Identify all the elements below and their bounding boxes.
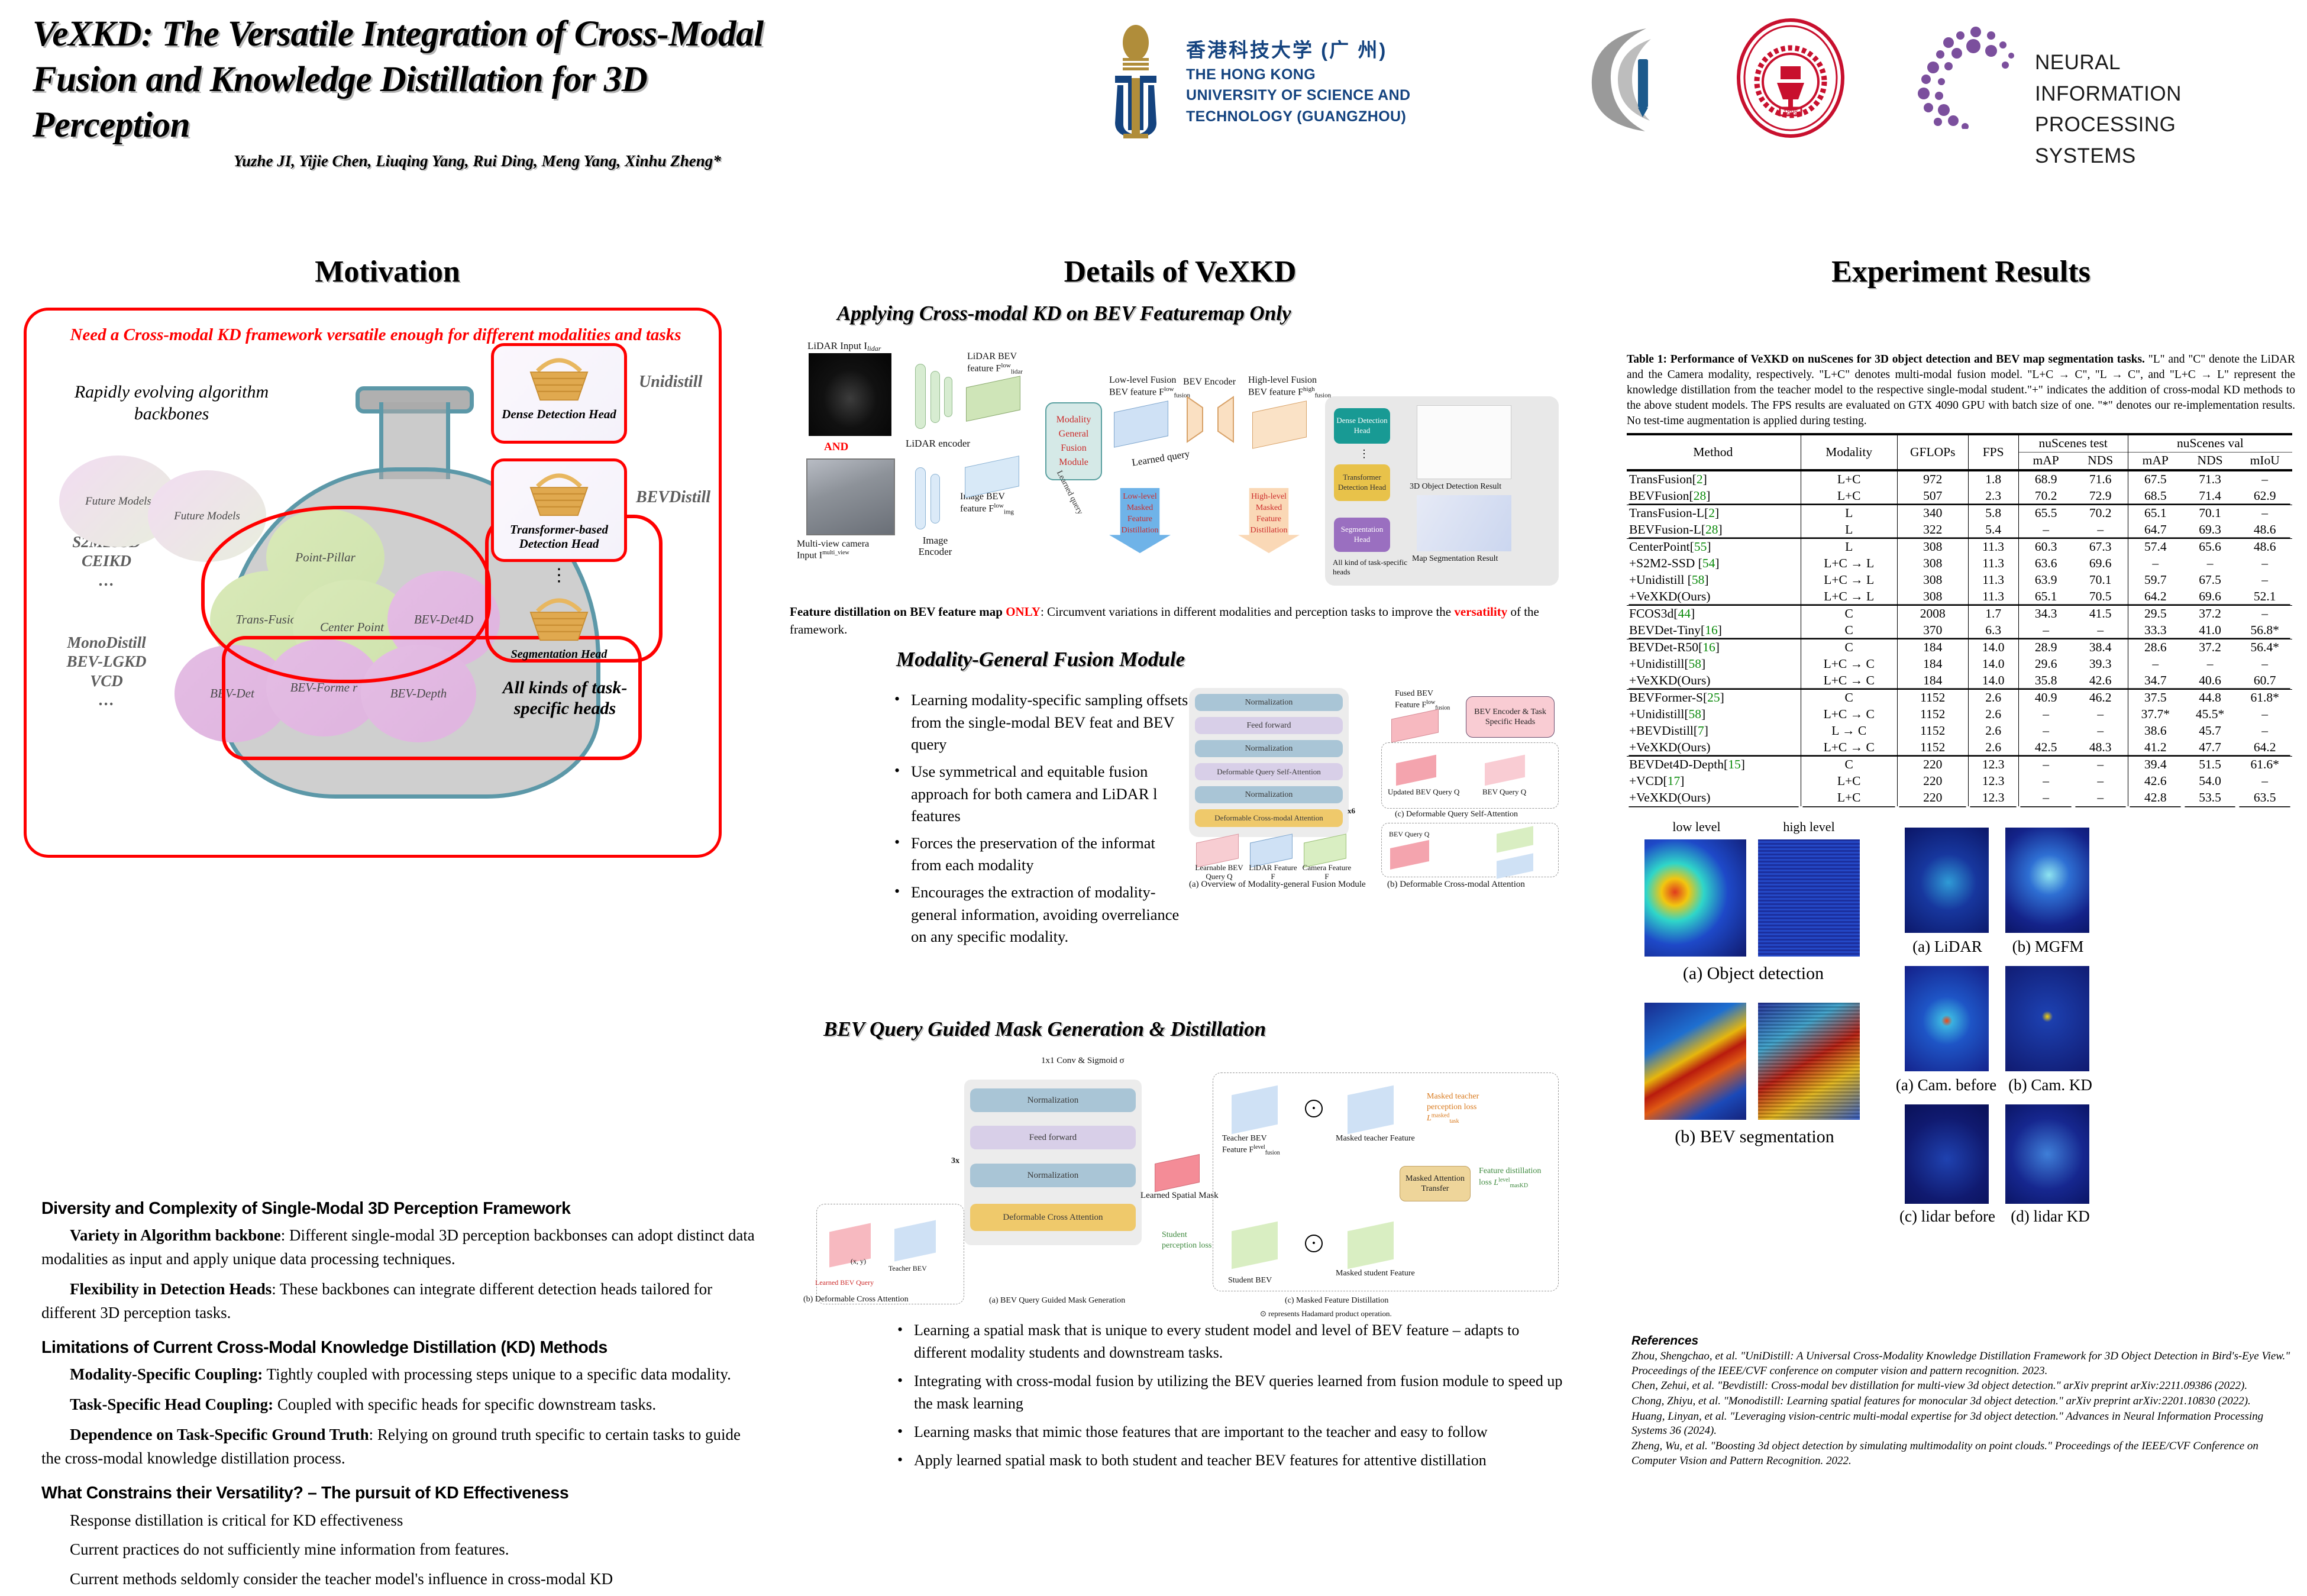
citation-ref[interactable]: 25 (1707, 690, 1720, 705)
label-ellipsis-a: … (33, 571, 180, 590)
cell-fps: 2.6 (1968, 739, 2018, 757)
cell-method: BEVDet-Tiny[16] (1627, 622, 1801, 639)
cell-test-map: – (2018, 790, 2073, 806)
hkust-en-line-3: TECHNOLOGY (GUANGZHOU) (1186, 106, 1411, 128)
cell-test-map: 65.5 (2018, 505, 2073, 522)
table-row: BEVDet-R50[16]C18414.028.938.428.637.256… (1627, 639, 2292, 656)
versatility-line-1: Response distillation is critical for KD… (70, 1508, 757, 1533)
viz-lidar-kd (2005, 1104, 2089, 1204)
heading-motivation: Motivation (24, 254, 751, 289)
cell-modality: L+C → C (1801, 656, 1897, 673)
cell-val-map: 59.7 (2128, 572, 2183, 589)
cell-fps: 12.3 (1968, 773, 2018, 790)
cell-val-miou: 62.9 (2237, 488, 2292, 505)
cell-val-nds: 53.5 (2183, 790, 2238, 806)
label-all-task-heads: All kind of task-specific heads (1333, 558, 1410, 576)
cell-method: +VeXKD(Ours) (1627, 790, 1801, 806)
cell-val-miou: – (2237, 605, 2292, 622)
label-lowlevel-fusion: Low-level Fusion BEV feature Flowfusion (1109, 374, 1190, 400)
label-masked-teacher-loss: Masked teacher perception loss Lmaskedta… (1427, 1091, 1498, 1126)
right-column: Table 1: Performance of VeXKD on nuScene… (1627, 308, 2295, 1227)
mask-bullet-3: Learning masks that mimic those features… (890, 1421, 1568, 1443)
cell-test-nds: – (2073, 622, 2128, 639)
caption-lidar-before: (c) lidar before (1888, 1207, 2006, 1226)
kd-method-group-camera: MonoDistill BEV-LGKD VCD … (27, 633, 186, 710)
lowlevel-fusion-cube (1114, 400, 1168, 448)
results-table-body: TransFusion[2]L+C9721.868.971.667.571.3–… (1627, 470, 2292, 806)
cell-modality: C (1801, 689, 1897, 706)
cell-modality: L+C (1801, 470, 1897, 488)
subheading-bev-kd-only: Applying Cross-modal KD on BEV Featurema… (837, 302, 1291, 325)
cell-val-nds: 37.2 (2183, 605, 2238, 622)
cell-val-miou: – (2237, 470, 2292, 488)
para-ground-truth: Dependence on Task-Specific Ground Truth… (41, 1423, 757, 1471)
para-variety: Variety in Algorithm backbone: Different… (41, 1224, 757, 1271)
label-learned-spatial-mask: Learned Spatial Mask (1140, 1191, 1219, 1201)
cell-gflops: 322 (1897, 522, 1968, 539)
caption-mgfm: (b) MGFM (1995, 938, 2101, 956)
label-lidar-bev-feature: LiDAR BEV feature Flowlidar (967, 351, 1023, 376)
label-unidistill: Unidistill (639, 373, 702, 392)
cell-val-map: 34.7 (2128, 673, 2183, 690)
mask-bullet-1: Learning a spatial mask that is unique t… (890, 1319, 1568, 1364)
cell-fps: 2.6 (1968, 706, 2018, 723)
cell-val-miou: – (2237, 706, 2292, 723)
camera-input-image (806, 458, 895, 535)
cell-fps: 11.3 (1968, 572, 2018, 589)
cell-test-nds: – (2073, 756, 2128, 773)
cell-modality: C (1801, 756, 1897, 773)
mask-deformable-cross-attention: Deformable Cross Attention (970, 1204, 1136, 1231)
label-repeat-x6: x6 (1348, 806, 1355, 816)
label-learned-bev-query: Learned BEV Query (815, 1278, 874, 1287)
mgfm-bullet-1: Learning modality-specific sampling offs… (887, 689, 1189, 756)
basket-icon (515, 348, 603, 408)
cell-gflops: 340 (1897, 505, 1968, 522)
cell-val-nds: 71.4 (2183, 488, 2238, 505)
cell-test-map: – (2018, 522, 2073, 539)
citation-ref[interactable]: 17 (1668, 774, 1681, 788)
cell-val-nds: 69.3 (2183, 522, 2238, 539)
cell-val-map: 67.5 (2128, 470, 2183, 488)
cell-test-map: – (2018, 756, 2073, 773)
caption-d-cross-attention: (b) Deformable Cross-modal Attention (1387, 880, 1525, 890)
cell-val-miou: 60.7 (2237, 673, 2292, 690)
citation-ref[interactable]: 58 (1692, 573, 1705, 587)
versatility-line-3: Current methods seldomly consider the te… (70, 1567, 757, 1591)
cell-test-nds: 70.5 (2073, 589, 2128, 606)
viz-bevseg-high (1758, 1003, 1860, 1120)
citation-ref[interactable]: 16 (1705, 623, 1718, 637)
cell-gflops: 220 (1897, 756, 1968, 773)
cell-test-nds: 39.3 (2073, 656, 2128, 673)
cell-val-nds: 41.0 (2183, 622, 2238, 639)
heading-details: Details of VeXKD (787, 254, 1573, 289)
detection-result-image (1417, 405, 1511, 479)
caption-a-mgfm-overview: (a) Overview of Modality-general Fusion … (1189, 880, 1366, 890)
table-header-row-1: Method Modality GFLOPs FPS nuScenes test… (1627, 434, 2292, 453)
table-row: TransFusion-L[2]L3405.865.570.265.170.1– (1627, 505, 2292, 522)
cell-val-nds: 47.7 (2183, 739, 2238, 757)
poster-title-line-3: Perception (33, 103, 1038, 148)
neurips-wordmark: NEURAL INFORMATION PROCESSING SYSTEMS (2035, 47, 2266, 172)
table-row: +VeXKD(Ours)L+C22012.3––42.853.563.5 (1627, 790, 2292, 806)
cell-val-nds: 45.7 (2183, 723, 2238, 739)
table-row: BEVFusion-L[28]L3225.4––64.769.348.6 (1627, 522, 2292, 539)
lowlevel-distill-arrow: Low-levelMasked FeatureDistillation (1109, 488, 1171, 553)
lidar-encoder-layer-1 (915, 364, 926, 429)
viz-bevseg-low (1644, 1003, 1746, 1120)
section-head-diversity: Diversity and Complexity of Single-Modal… (41, 1199, 757, 1219)
cell-val-miou: – (2237, 773, 2292, 790)
basket-card-dense-head: Dense Detection Head (491, 343, 627, 444)
para-flexibility: Flexibility in Detection Heads: These ba… (41, 1278, 757, 1325)
cell-test-map: 40.9 (2018, 689, 2073, 706)
cell-val-map: 29.5 (2128, 605, 2183, 622)
cell-test-map: – (2018, 773, 2073, 790)
cell-val-map: 37.5 (2128, 689, 2183, 706)
basket-card-transformer-head: Transformer-based Detection Head (491, 458, 627, 562)
caption-a-mask-generation: (a) BEV Query Guided Mask Generation (989, 1296, 1125, 1306)
label-lidar-feature: LiDAR Feature F (1248, 864, 1298, 881)
cell-val-miou: – (2237, 723, 2292, 739)
motivation-figure: Need a Cross-modal KD framework versatil… (24, 308, 722, 858)
cell-method: BEVDet4D-Depth[15] (1627, 756, 1801, 773)
cell-modality: L+C → C (1801, 706, 1897, 723)
table-row: +Unidistill [58]L+C → L30811.363.970.159… (1627, 572, 2292, 589)
highlevel-distill-arrow: High-levelMasked FeatureDistillation (1238, 488, 1300, 553)
citation-ref[interactable]: 2 (1708, 506, 1715, 520)
segmentation-head-box: Segmentation Head (1334, 518, 1390, 552)
cell-fps: 14.0 (1968, 639, 2018, 656)
table-row: +VCD[17]L+C22012.3––42.654.0– (1627, 773, 2292, 790)
cell-modality: L+C → L (1801, 589, 1897, 606)
cell-val-nds: – (2183, 555, 2238, 572)
highlevel-fusion-cube (1252, 400, 1307, 449)
lidar-encoder-layer-3 (944, 377, 952, 417)
cell-method: +VeXKD(Ours) (1627, 739, 1801, 757)
rapidly-evolving-label: Rapidly evolving algorithm backbones (74, 382, 269, 425)
left-column-body: Diversity and Complexity of Single-Modal… (41, 1186, 757, 1596)
table-row: CenterPoint[55]L30811.360.367.357.465.64… (1627, 538, 2292, 555)
svg-text:1896: 1896 (1783, 109, 1798, 116)
cell-method: +VCD[17] (1627, 773, 1801, 790)
cell-fps: 11.3 (1968, 538, 2018, 555)
label-bevlgkd: BEV-LGKD (27, 652, 186, 671)
label-detection-result: 3D Object Detection Result (1410, 482, 1501, 492)
cell-val-map: 65.1 (2128, 505, 2183, 522)
cell-fps: 14.0 (1968, 656, 2018, 673)
label-bev-query-d: BEV Query Q (1389, 830, 1429, 839)
label-monodistill: MonoDistill (27, 633, 186, 652)
label-image-encoder: Image Encoder (912, 535, 959, 557)
cell-test-nds: 38.4 (2073, 639, 2128, 656)
viz-objdet-low (1644, 839, 1746, 957)
citation-ref[interactable]: 55 (1694, 539, 1707, 554)
cell-val-nds: 70.1 (2183, 505, 2238, 522)
citation-ref[interactable]: 2 (1697, 472, 1703, 486)
cell-modality: L+C → C (1801, 673, 1897, 690)
cell-method: BEVFusion[28] (1627, 488, 1801, 505)
cell-test-nds: – (2073, 522, 2128, 539)
mgfm-norm-2: Normalization (1195, 786, 1343, 803)
label-hadamard-note: ⊙ represents Hadamard product operation. (1260, 1309, 1392, 1319)
figure-pipeline-note: Feature distillation on BEV feature map … (790, 603, 1571, 639)
cell-val-map: 42.8 (2128, 790, 2183, 806)
caption-b-deformable-cross-attention: (b) Deformable Cross Attention (803, 1295, 909, 1304)
cell-val-nds: – (2183, 656, 2238, 673)
cell-val-nds: 54.0 (2183, 773, 2238, 790)
citation-ref[interactable]: 44 (1678, 606, 1691, 621)
cell-test-map: 60.3 (2018, 538, 2073, 555)
viz-mgfm (2005, 828, 2089, 933)
figure-mgfm: Normalization Feed forward Normalization… (1189, 683, 1571, 878)
cell-test-map: – (2018, 723, 2073, 739)
cell-val-map: – (2128, 555, 2183, 572)
table-row: +VeXKD(Ours)L+C → C11522.642.548.341.247… (1627, 739, 2292, 757)
caption-lidar: (a) LiDAR (1894, 938, 2001, 956)
cell-test-nds: – (2073, 773, 2128, 790)
poster-title-line-2: Fusion and Knowledge Distillation for 3D (33, 57, 1038, 103)
cell-fps: 1.8 (1968, 470, 2018, 488)
cell-test-map: 28.9 (2018, 639, 2073, 656)
heading-results: Experiment Results (1627, 254, 2295, 289)
references-section: References Zhou, Shengchao, et al. "UniD… (1631, 1334, 2300, 1469)
basket-label-segmentation-head: Segmentation Head (494, 648, 624, 661)
cell-val-nds: 67.5 (2183, 572, 2238, 589)
cell-gflops: 507 (1897, 488, 1968, 505)
th-method: Method (1627, 434, 1801, 470)
cell-val-miou: 48.6 (2237, 538, 2292, 555)
cell-val-map: 37.7* (2128, 706, 2183, 723)
citation-ref[interactable]: 58 (1689, 657, 1702, 671)
hkust-mark-icon (1097, 24, 1174, 139)
versatility-line-2: Current practices do not sufficiently mi… (70, 1537, 757, 1562)
cell-val-miou: – (2237, 572, 2292, 589)
cell-fps: 11.3 (1968, 589, 2018, 606)
hkust-logo: 香港科技大学 (广 州) THE HONG KONG UNIVERSITY OF… (1097, 24, 1547, 142)
cell-method: +Unidistill[58] (1627, 656, 1801, 673)
cell-modality: C (1801, 605, 1897, 622)
table-row: +Unidistill[58]L+C → C18414.029.639.3––– (1627, 656, 2292, 673)
citation-ref[interactable]: 54 (1702, 556, 1715, 570)
cell-gflops: 220 (1897, 790, 1968, 806)
hadamard-icon-2: • (1305, 1235, 1323, 1252)
figure-pipeline: LiDAR Input Ilidar AND Multi-view camera… (790, 340, 1571, 595)
cell-fps: 12.3 (1968, 756, 2018, 773)
mask-norm-2: Normalization (970, 1088, 1136, 1112)
left-column: Need a Cross-modal KD framework versatil… (24, 308, 751, 858)
cell-fps: 6.3 (1968, 622, 2018, 639)
cell-fps: 5.8 (1968, 505, 2018, 522)
cell-method: TransFusion-L[2] (1627, 505, 1801, 522)
reference-item: Huang, Linyan, et al. "Leveraging vision… (1631, 1410, 2300, 1439)
citation-ref[interactable]: 28 (1694, 489, 1707, 503)
th-test-nds: NDS (2073, 452, 2128, 470)
cell-val-map: 64.7 (2128, 522, 2183, 539)
dense-detection-head-box: Dense Detection Head (1334, 408, 1390, 444)
citation-ref[interactable]: 15 (1728, 757, 1741, 771)
label-teacher-bev-feature: Teacher BEV Feature Flevelfusion (1222, 1134, 1280, 1156)
cell-gflops: 308 (1897, 555, 1968, 572)
mgfm-box: ModalityGeneral FusionModule (1045, 402, 1102, 480)
cell-gflops: 972 (1897, 470, 1968, 488)
lidar-encoder-layer-2 (930, 371, 940, 423)
results-table: Method Modality GFLOPs FPS nuScenes test… (1627, 433, 2292, 806)
mgfm-query-self-attention: Deformable Query Self-Attention (1195, 763, 1343, 780)
references-heading: References (1631, 1334, 2300, 1348)
cell-test-map: 63.9 (2018, 572, 2073, 589)
cell-val-miou: 61.6* (2237, 756, 2292, 773)
label-fused-bev: Fused BEV Feature Flowfusion (1395, 689, 1450, 712)
citation-ref[interactable]: 7 (1698, 723, 1704, 738)
mask-bullet-2: Integrating with cross-modal fusion by u… (890, 1370, 1568, 1415)
basket-label-dense-head: Dense Detection Head (494, 408, 624, 422)
table-row: +Unidistill[58]L+C → C11522.6––37.7*45.5… (1627, 706, 2292, 723)
author-list: Yuzhe JI, Yijie Chen, Liuqing Yang, Rui … (234, 152, 1038, 170)
reference-item: Zheng, Wu, et al. "Boosting 3d object de… (1631, 1439, 2300, 1468)
cell-test-nds: 70.2 (2073, 505, 2128, 522)
image-encoder-layer-1 (915, 467, 926, 529)
section-head-versatility: What Constrains their Versatility? – The… (41, 1484, 757, 1503)
vertical-ellipsis-icon: ⋮ (550, 565, 569, 586)
cell-test-nds: 70.1 (2073, 572, 2128, 589)
cell-val-map: 38.6 (2128, 723, 2183, 739)
cell-test-nds: 48.3 (2073, 739, 2128, 757)
cell-val-miou: 64.2 (2237, 739, 2292, 757)
all-kinds-heads-label: All kinds of task-specific heads (482, 677, 648, 719)
poster-title-line-1: VeXKD: The Versatile Integration of Cros… (33, 12, 1038, 57)
hkust-logo-text: 香港科技大学 (广 州) THE HONG KONG UNIVERSITY OF… (1186, 37, 1411, 127)
cell-val-miou: – (2237, 656, 2292, 673)
label-camera-input: Multi-view camera Input Imulti_view (797, 538, 909, 561)
cell-val-map: 57.4 (2128, 538, 2183, 555)
cell-val-miou: 48.6 (2237, 522, 2292, 539)
cell-val-nds: 65.6 (2183, 538, 2238, 555)
cell-method: CenterPoint[55] (1627, 538, 1801, 555)
grey-swirl-logo-icon (1576, 25, 1689, 134)
cell-test-map: 35.8 (2018, 673, 2073, 690)
citation-ref[interactable]: 58 (1689, 707, 1702, 721)
cell-val-miou: 56.8* (2237, 622, 2292, 639)
viz-cam-before (1905, 966, 1989, 1071)
reference-item: Chen, Zehui, et al. "Bevdistill: Cross-m… (1631, 1379, 2300, 1394)
cell-gflops: 1152 (1897, 689, 1968, 706)
mgfm-norm-3: Normalization (1195, 740, 1343, 757)
label-updated-bev-query: Updated BEV Query Q (1388, 787, 1459, 797)
cell-test-nds: – (2073, 790, 2128, 806)
cell-modality: L+C (1801, 488, 1897, 505)
cell-test-map: 42.5 (2018, 739, 2073, 757)
basket-card-segmentation-head: Segmentation Head (494, 589, 624, 661)
mgfm-feedforward: Feed forward (1195, 717, 1343, 734)
cell-gflops: 1152 (1897, 723, 1968, 739)
th-fps: FPS (1968, 434, 2018, 470)
cell-val-miou: – (2237, 555, 2292, 572)
basket-icon (515, 464, 603, 523)
label-repeat-3x: 3x (951, 1156, 959, 1166)
cell-modality: L (1801, 538, 1897, 555)
label-segmentation-result: Map Segmentation Result (1412, 554, 1498, 564)
label-xy-inset: (x, y) (851, 1257, 866, 1266)
fused-bev-cube (1391, 709, 1439, 742)
label-masked-teacher-feature: Masked teacher Feature (1336, 1134, 1415, 1143)
th-group-nuscenes-test: nuScenes test (2018, 434, 2128, 453)
cell-modality: L → C (1801, 723, 1897, 739)
cell-method: +VeXKD(Ours) (1627, 673, 1801, 690)
cell-fps: 1.7 (1968, 605, 2018, 622)
table-row: +BEVDistill[7]L → C11522.6––38.645.7– (1627, 723, 2292, 739)
cell-method: TransFusion[2] (1627, 470, 1801, 488)
poster-header: VeXKD: The Versatile Integration of Cros… (0, 0, 2307, 177)
citation-ref[interactable]: 28 (1705, 522, 1718, 537)
cell-val-map: 68.5 (2128, 488, 2183, 505)
hkust-en-line-2: UNIVERSITY OF SCIENCE AND (1186, 85, 1411, 106)
cell-gflops: 184 (1897, 673, 1968, 690)
title-block: VeXKD: The Versatile Integration of Cros… (33, 12, 1038, 170)
cell-test-map: 65.1 (2018, 589, 2073, 606)
heads-ellipsis-icon: ⋮ (1359, 448, 1369, 460)
mgfm-bullet-4: Encourages the extraction of modality-ge… (887, 881, 1189, 948)
label-learnable-bev-query: Learnable BEV Query Q (1194, 864, 1245, 881)
cell-test-map: 68.9 (2018, 470, 2073, 488)
table-row: BEVDet4D-Depth[15]C22012.3––39.451.561.6… (1627, 756, 2292, 773)
label-highlevel-fusion: High-level Fusion BEV feature Fhighfusio… (1248, 374, 1331, 400)
label-learned-query-1: Learned query (1131, 448, 1191, 469)
results-table-head: Method Modality GFLOPs FPS nuScenes test… (1627, 434, 2292, 470)
viz-lidar (1905, 828, 1989, 933)
mask-norm-1: Normalization (970, 1164, 1136, 1187)
cell-method: +Unidistill [58] (1627, 572, 1801, 589)
citation-ref[interactable]: 16 (1702, 640, 1715, 654)
cell-modality: L+C → L (1801, 572, 1897, 589)
cell-test-nds: 41.5 (2073, 605, 2128, 622)
label-student-bev-feature: Student BEV (1228, 1276, 1272, 1286)
cell-modality: C (1801, 639, 1897, 656)
th-test-map: mAP (2018, 452, 2073, 470)
label-teacher-bev-inset: Teacher BEV (888, 1264, 927, 1273)
cell-gflops: 308 (1897, 589, 1968, 606)
label-bev-query-c: BEV Query Q (1482, 787, 1526, 797)
cell-val-map: 33.3 (2128, 622, 2183, 639)
caption-c-masked-feature-distillation: (c) Masked Feature Distillation (1285, 1296, 1388, 1306)
th-gflops: GFLOPs (1897, 434, 1968, 470)
learned-spatial-mask-cube (1155, 1154, 1200, 1192)
segmentation-result-image (1417, 495, 1511, 551)
cell-test-map: – (2018, 706, 2073, 723)
label-high-level: high level (1762, 819, 1856, 835)
cell-val-nds: 45.5* (2183, 706, 2238, 723)
cell-val-map: 28.6 (2128, 639, 2183, 656)
cell-gflops: 308 (1897, 538, 1968, 555)
cell-test-map: 70.2 (2018, 488, 2073, 505)
basket-icon (515, 589, 603, 648)
mgfm-cross-modal-attention: Deformable Cross-modal Attention (1195, 809, 1343, 827)
cell-modality: L+C → L (1801, 555, 1897, 572)
cell-gflops: 2008 (1897, 605, 1968, 622)
transformer-detection-head-box: Transformer Detection Head (1334, 464, 1390, 501)
table-row: BEVFormer-S[25]C11522.640.946.237.544.86… (1627, 689, 2292, 706)
cell-gflops: 308 (1897, 572, 1968, 589)
cell-fps: 5.4 (1968, 522, 2018, 539)
image-encoder-layer-2 (930, 474, 940, 524)
cell-val-miou: 61.8* (2237, 689, 2292, 706)
xjtu-logo-icon: 1896 (1733, 18, 1849, 139)
label-ceikd: CEIKD (33, 551, 180, 570)
cell-method: +S2M2-SSD [54] (1627, 555, 1801, 572)
cell-gflops: 1152 (1897, 739, 1968, 757)
lidar-input-image (809, 353, 891, 436)
